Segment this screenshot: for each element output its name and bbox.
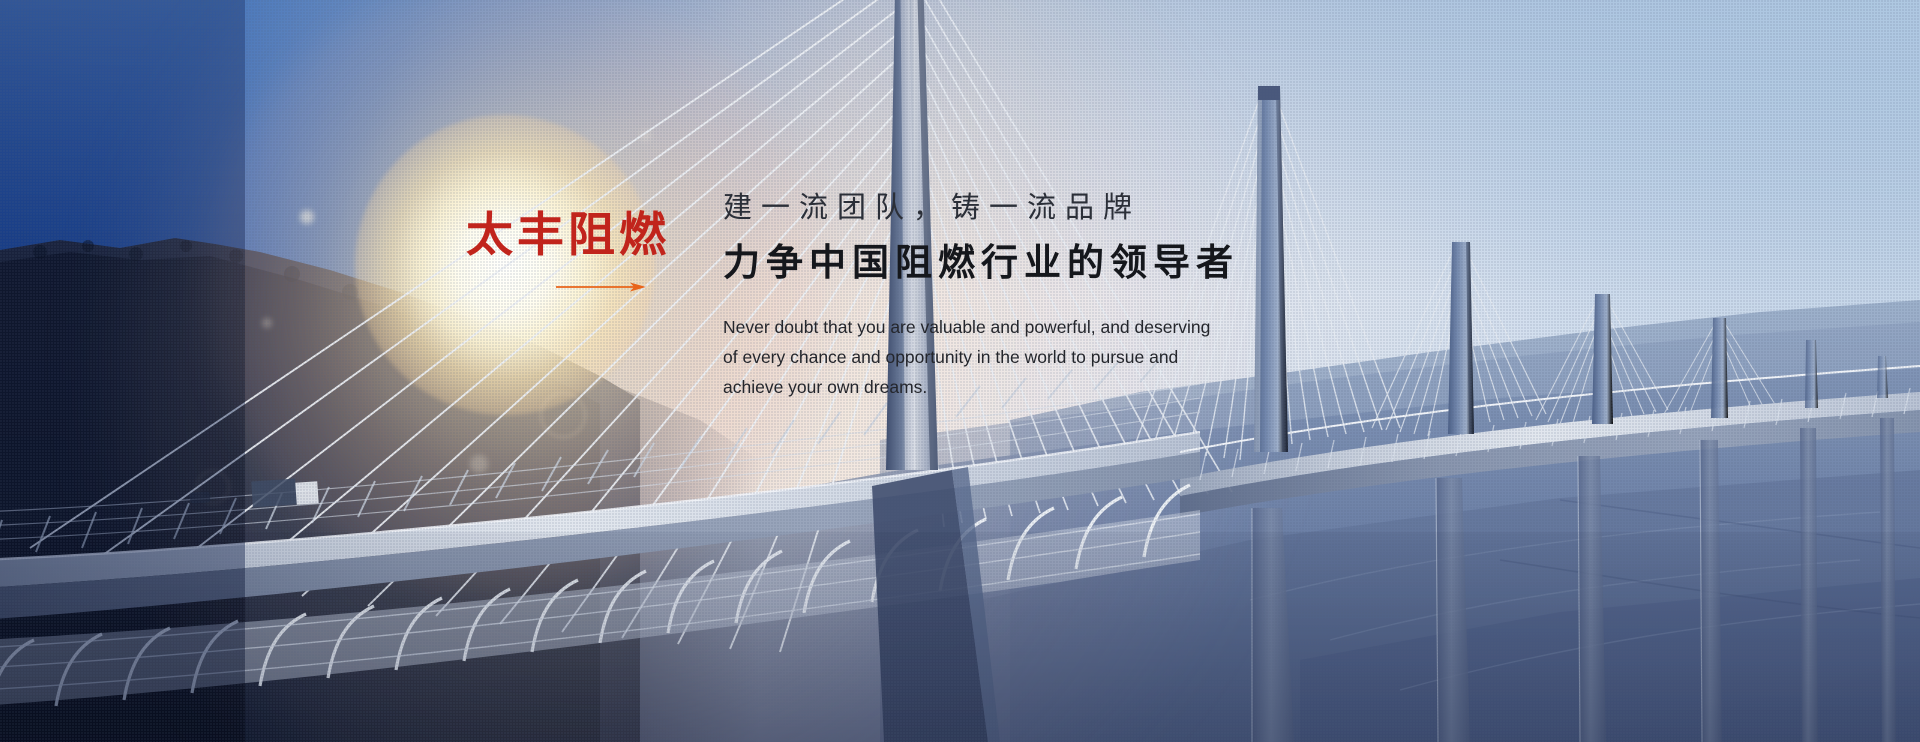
description-line-1: Never doubt that you are valuable and po… xyxy=(723,312,1303,342)
hero-banner: 太丰阻燃 建一流团队，铸一流品牌 力争中国阻燃行业的领导者 Never doub… xyxy=(0,0,1920,742)
headline-description: Never doubt that you are valuable and po… xyxy=(723,312,1303,402)
headline-subtitle: 建一流团队，铸一流品牌 xyxy=(723,190,1343,225)
banner-content: 太丰阻燃 建一流团队，铸一流品牌 力争中国阻燃行业的领导者 Never doub… xyxy=(0,0,1920,742)
headline-title: 力争中国阻燃行业的领导者 xyxy=(723,241,1343,285)
brand-logo[interactable]: 太丰阻燃 xyxy=(466,212,716,293)
description-line-2: of every chance and opportunity in the w… xyxy=(723,342,1303,372)
brand-wordmark: 太丰阻燃 xyxy=(466,212,716,259)
description-line-3: achieve your own dreams. xyxy=(723,372,1303,402)
headline-copy: 建一流团队，铸一流品牌 力争中国阻燃行业的领导者 Never doubt tha… xyxy=(723,190,1343,402)
arrow-right-icon xyxy=(556,281,648,293)
